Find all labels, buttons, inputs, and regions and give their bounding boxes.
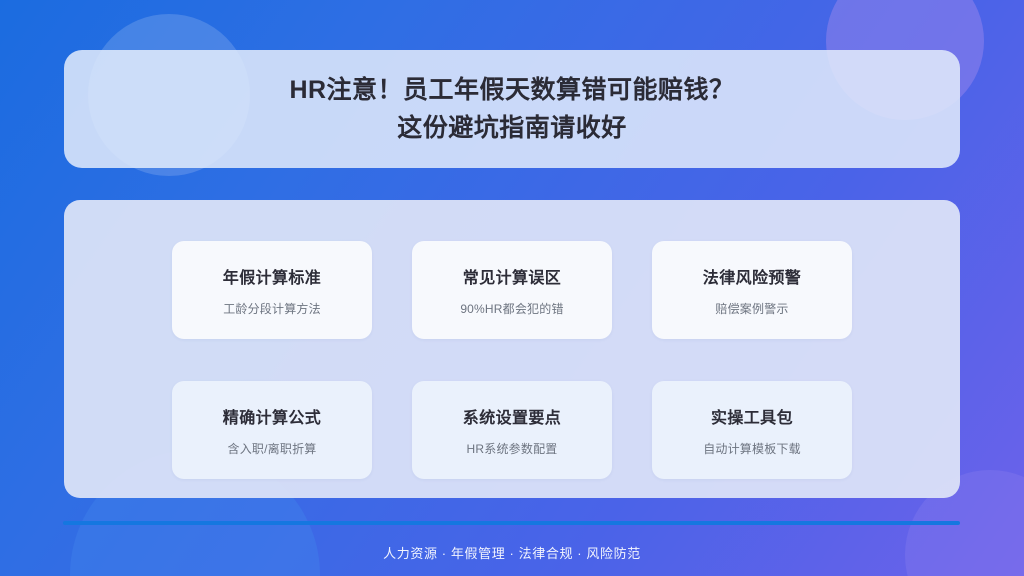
info-card-legal-risk-alert[interactable]: 法律风险预警 赔偿案例警示 [652, 241, 852, 339]
card-subtitle: HR系统参数配置 [467, 440, 558, 457]
infographic-canvas: HR注意！员工年假天数算错可能赔钱？ 这份避坑指南请收好 年假计算标准 工龄分段… [0, 0, 1024, 576]
card-grid: 年假计算标准 工龄分段计算方法 常见计算误区 90%HR都会犯的错 法律风险预警… [100, 241, 924, 479]
card-subtitle: 赔偿案例警示 [715, 300, 788, 317]
info-card-precise-formula[interactable]: 精确计算公式 含入职/离职折算 [172, 381, 372, 479]
main-panel: 年假计算标准 工龄分段计算方法 常见计算误区 90%HR都会犯的错 法律风险预警… [64, 200, 960, 498]
card-title: 年假计算标准 [223, 264, 321, 288]
card-title: 法律风险预警 [703, 264, 801, 288]
info-card-system-settings[interactable]: 系统设置要点 HR系统参数配置 [412, 381, 612, 479]
accent-bar [63, 521, 960, 525]
card-title: 实操工具包 [711, 404, 793, 428]
card-subtitle: 90%HR都会犯的错 [460, 300, 563, 317]
footer-tagline: 人力资源 · 年假管理 · 法律合规 · 风险防范 [0, 543, 1024, 562]
page-title-line-1: HR注意！员工年假天数算错可能赔钱？ [289, 76, 734, 105]
info-card-toolkit[interactable]: 实操工具包 自动计算模板下载 [652, 381, 852, 479]
card-title: 精确计算公式 [223, 404, 321, 428]
card-subtitle: 工龄分段计算方法 [223, 300, 321, 317]
page-title-line-2: 这份避坑指南请收好 [397, 114, 627, 143]
info-card-annual-leave-standard[interactable]: 年假计算标准 工龄分段计算方法 [172, 241, 372, 339]
card-subtitle: 自动计算模板下载 [703, 440, 801, 457]
card-title: 常见计算误区 [463, 264, 561, 288]
info-card-common-mistakes[interactable]: 常见计算误区 90%HR都会犯的错 [412, 241, 612, 339]
header-card: HR注意！员工年假天数算错可能赔钱？ 这份避坑指南请收好 [64, 50, 960, 168]
card-title: 系统设置要点 [463, 404, 561, 428]
card-subtitle: 含入职/离职折算 [228, 440, 317, 457]
